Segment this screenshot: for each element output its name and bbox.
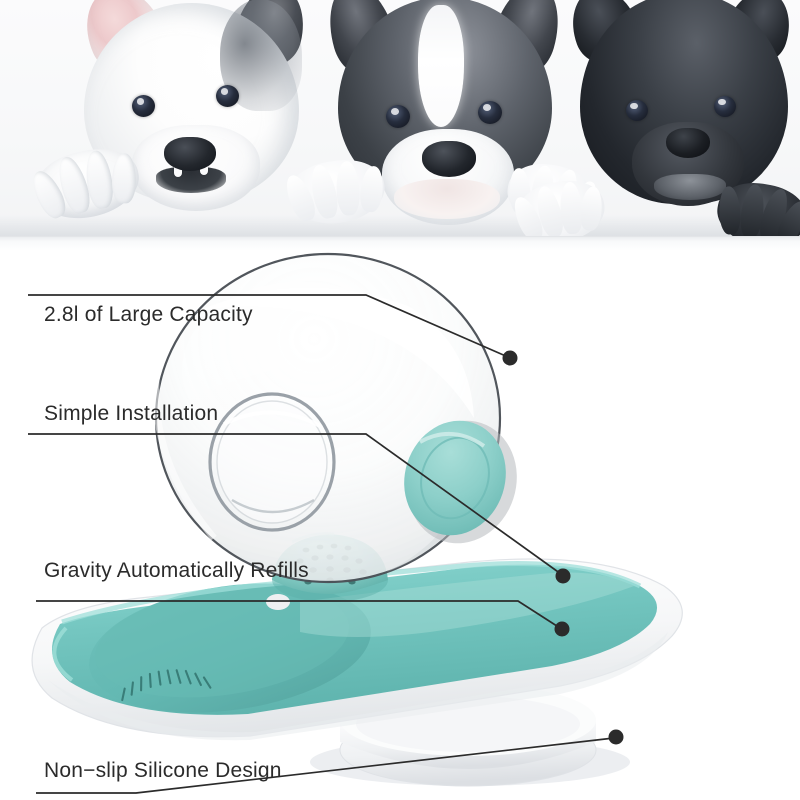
bowl-clip-nub (266, 594, 290, 610)
photo-ledge (0, 237, 800, 250)
puppy-eye-right (216, 85, 239, 107)
product-illustration-area (0, 250, 800, 800)
puppy-photo-band (0, 0, 800, 250)
product-drawing (0, 250, 800, 800)
puppy-eye-left (132, 95, 155, 117)
callout-label-installation: Simple Installation (44, 402, 218, 426)
puppy-eye-right (478, 101, 502, 124)
fill-port-opening (210, 394, 334, 530)
paw-toe (112, 153, 137, 203)
puppy-eye-left (386, 105, 410, 128)
puppy-nose (666, 128, 710, 158)
callout-label-silicone: Non−slip Silicone Design (44, 759, 282, 783)
photo-ledge-edge (0, 236, 800, 237)
infographic-stage: 2.8l of Large Capacity Simple Installati… (0, 0, 800, 800)
puppy-nose (164, 137, 216, 171)
black-puppy (528, 0, 800, 246)
puppy-paw-left (279, 140, 393, 232)
puppy-eye-right (714, 96, 736, 117)
puppy-jowl (394, 179, 500, 219)
puppy-forehead-blaze (418, 5, 464, 127)
callout-label-capacity: 2.8l of Large Capacity (44, 303, 253, 327)
callout-label-gravity: Gravity Automatically Refills (44, 559, 309, 583)
white-puppy (24, 0, 324, 220)
puppy-paw-left (21, 124, 154, 231)
puppy-nose (422, 141, 476, 177)
puppy-eye-left (626, 100, 648, 121)
